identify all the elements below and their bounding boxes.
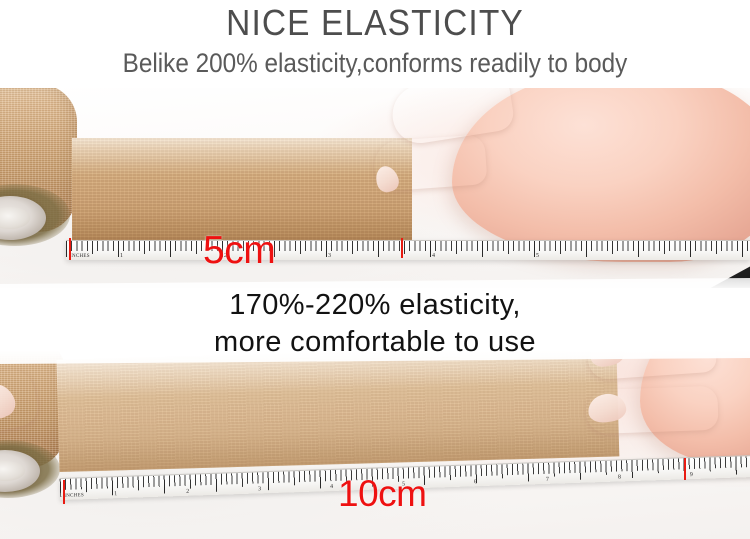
ruler-unit-label-top: INCHES — [70, 254, 90, 259]
caption-line-2: more comfortable to use — [0, 326, 750, 359]
bandage-tape-top — [72, 138, 412, 243]
ruler-end-mark-top — [401, 238, 403, 258]
ruler-number-bottom-8: 8 — [618, 474, 621, 480]
page-title: NICE ELASTICITY — [26, 2, 724, 44]
ruler-number-bottom-7: 7 — [546, 477, 549, 483]
ruler-end-mark-bottom — [684, 458, 686, 480]
tape-highlight — [72, 138, 412, 243]
header-section: NICE ELASTICITY Belike 200% elasticity,c… — [0, 0, 750, 88]
roll-core-inner — [0, 461, 25, 481]
ruler-major-ticks — [66, 241, 750, 257]
roll-core-inner — [0, 207, 30, 228]
ruler-start-mark-bottom — [63, 480, 65, 504]
tape-highlight — [56, 344, 619, 472]
page-subtitle: Belike 200% elasticity,conforms readily … — [38, 48, 713, 79]
ruler-number-top-1: 1 — [120, 253, 123, 259]
ruler-number-bottom-6: 6 — [474, 479, 477, 485]
ruler-number-bottom-2: 2 — [186, 489, 189, 495]
ruler-number-bottom-1: 1 — [114, 491, 117, 497]
ruler-start-mark-top — [69, 238, 71, 260]
caption-line-1: 170%-220% elasticity, — [0, 289, 750, 322]
ruler-number-bottom-3: 3 — [258, 486, 261, 492]
bandage-tape-bottom — [56, 344, 619, 472]
photo-unstretched-bandage: INCHES 1 2 3 4 5 — [0, 88, 750, 288]
ruler-number-top-4: 4 — [432, 253, 435, 259]
ruler-number-top-3: 3 — [328, 253, 331, 259]
ruler-number-bottom-4: 4 — [330, 484, 333, 490]
ruler-unit-label-bottom: INCHES — [64, 493, 84, 499]
measurement-label-5cm: 5cm — [203, 231, 275, 270]
measurement-label-10cm: 10cm — [338, 475, 426, 512]
ruler-number-bottom-9: 9 — [690, 472, 693, 478]
product-infographic: NICE ELASTICITY Belike 200% elasticity,c… — [0, 0, 750, 539]
ruler-number-top-5: 5 — [536, 253, 539, 259]
ruler-top: INCHES 1 2 3 4 5 — [66, 240, 750, 260]
